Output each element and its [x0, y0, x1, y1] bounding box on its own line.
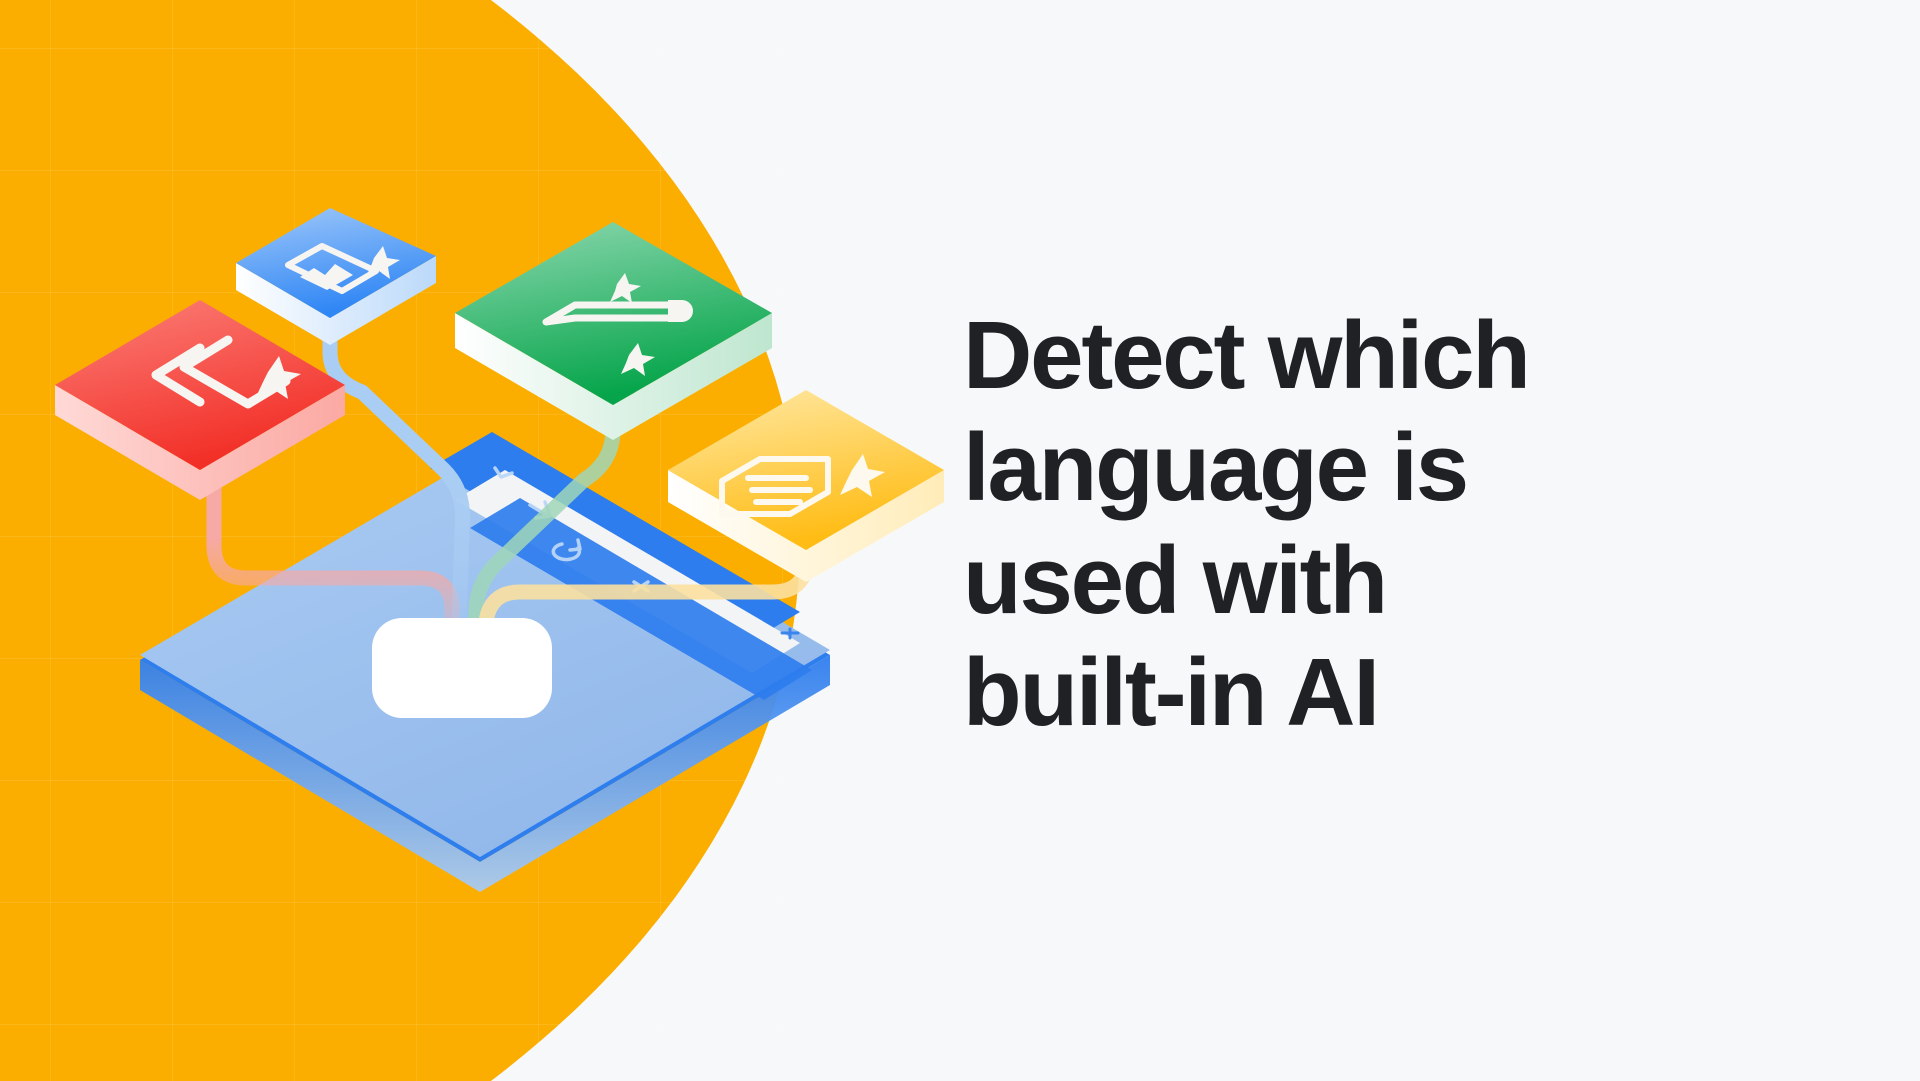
- rewrite-card: [455, 222, 772, 440]
- headline-line-3: used with: [963, 525, 1793, 637]
- headline-line-1: Detect which: [963, 300, 1793, 412]
- page-title: Detect which language is used with built…: [963, 300, 1793, 749]
- center-node: [372, 618, 552, 718]
- image-card: [236, 208, 436, 345]
- slide-canvas: Detect which language is used with built…: [0, 0, 1920, 1081]
- headline-line-2: language is: [963, 412, 1793, 524]
- translate-card: [55, 300, 345, 500]
- illustration: [0, 0, 900, 1081]
- summarize-card: [668, 390, 944, 582]
- headline-line-4: built-in AI: [963, 637, 1793, 749]
